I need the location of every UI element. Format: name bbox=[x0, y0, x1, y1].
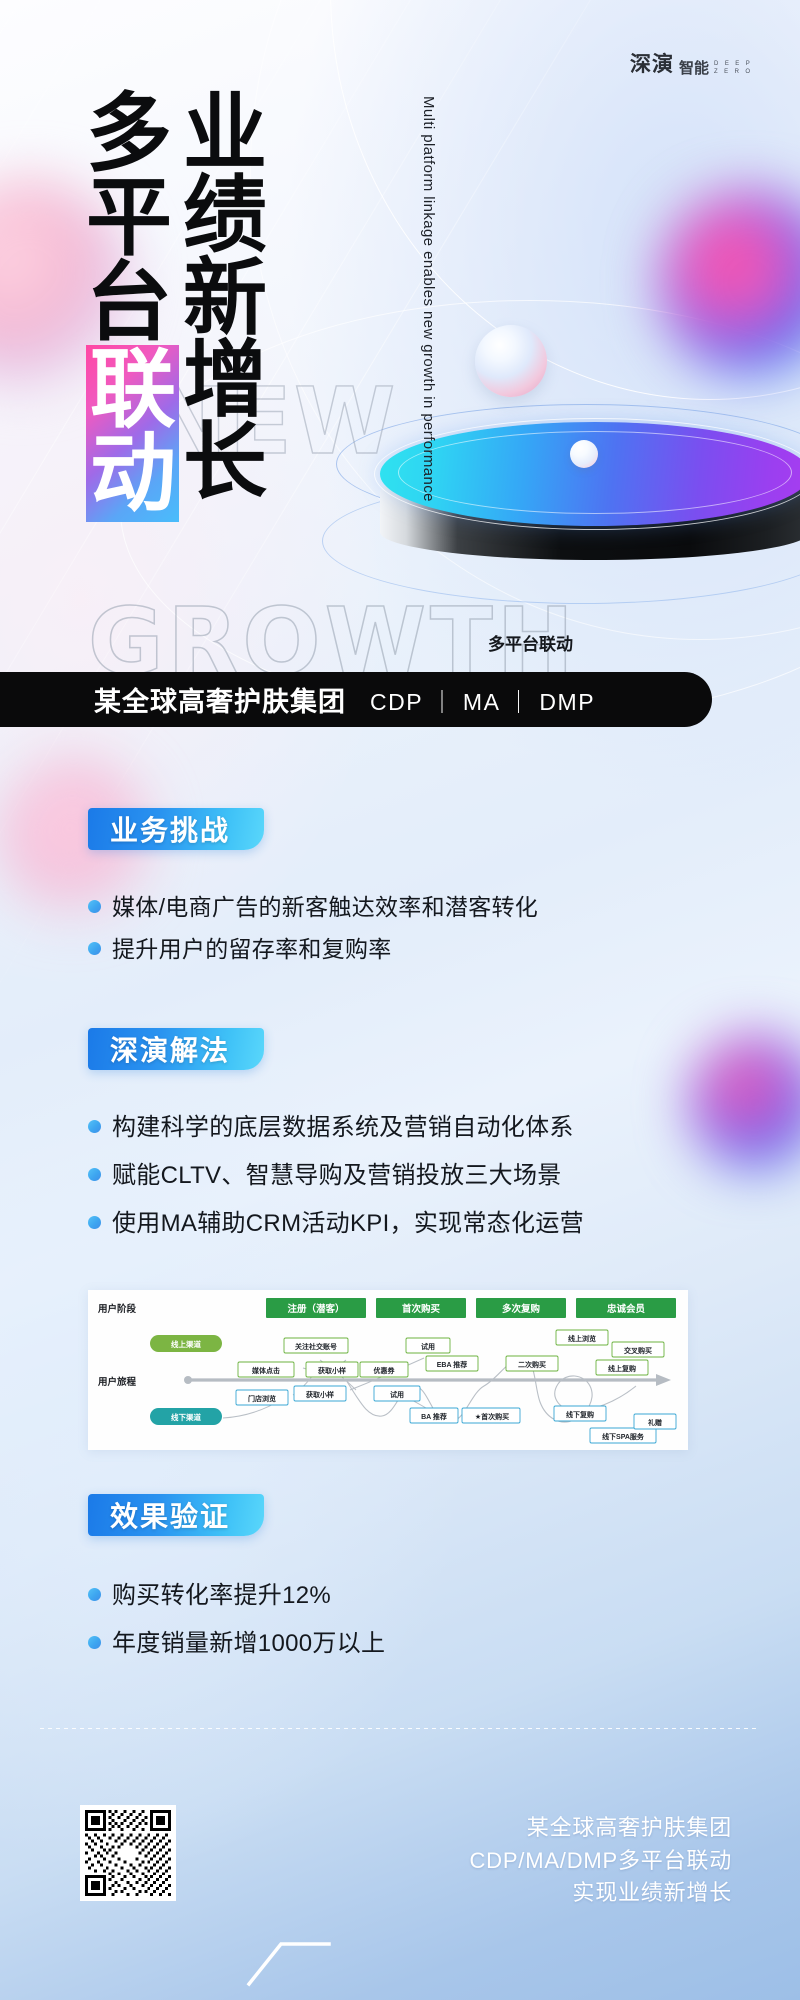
journey-node-label: 线上复购 bbox=[608, 1364, 636, 1373]
client-banner: 某全球高奢护肤集团 CDP ｜ MA ｜ DMP bbox=[0, 672, 712, 727]
journey-node-label: 试用 bbox=[390, 1390, 404, 1399]
journey-node-label: EBA 推荐 bbox=[437, 1360, 467, 1369]
logo-text-en: D E E P Z E R O bbox=[714, 60, 752, 78]
bullet-dot-icon bbox=[88, 900, 101, 913]
list-item: 使用MA辅助CRM活动KPI，实现常态化运营 bbox=[88, 1206, 698, 1242]
journey-node-offline: 门店浏览 bbox=[236, 1390, 288, 1405]
journey-node-label: 礼赠 bbox=[648, 1418, 662, 1427]
logo-en-line1: D E E P bbox=[714, 60, 752, 68]
multi-platform-label: 多平台联动 bbox=[488, 630, 573, 655]
journey-channel-label: 线下渠道 bbox=[171, 1412, 201, 1422]
user-journey-diagram: 用户阶段 用户旅程 注册（潜客） 首次购买 多次复购 忠诚会员 线上渠道 线下渠… bbox=[88, 1290, 688, 1450]
journey-timeline-arrow bbox=[656, 1374, 671, 1386]
bullet-dot-icon bbox=[88, 1216, 101, 1229]
journey-node-label: 线下复购 bbox=[566, 1410, 594, 1419]
journey-node-online: 交叉购买 bbox=[612, 1342, 664, 1357]
journey-node-label: 获取小样 bbox=[317, 1366, 346, 1375]
journey-node-offline-highlight: ★首次购买 bbox=[462, 1408, 520, 1423]
footer-line-3: 实现业绩新增长 bbox=[469, 1877, 732, 1910]
bullet-list-business-challenge: 媒体/电商广告的新客触达效率和潜客转化 提升用户的留存率和复购率 bbox=[88, 890, 688, 973]
journey-node-label: 二次购买 bbox=[518, 1360, 546, 1369]
logo-en-line2: Z E R O bbox=[714, 68, 752, 76]
headline-vertical-english: Multi platform linkage enables new growt… bbox=[250, 96, 440, 502]
footer-arrow-icon bbox=[245, 1940, 331, 1995]
decorative-sphere-small bbox=[570, 440, 598, 468]
section-header-solution: 深演解法 bbox=[88, 1028, 264, 1070]
journey-stage-label: 注册（潜客） bbox=[287, 1303, 344, 1315]
bullet-dot-icon bbox=[88, 1120, 101, 1133]
journey-node-online: EBA 推荐 bbox=[426, 1356, 478, 1371]
decorative-sphere-large bbox=[475, 325, 547, 397]
journey-svg: 用户阶段 用户旅程 注册（潜客） 首次购买 多次复购 忠诚会员 线上渠道 线下渠… bbox=[88, 1290, 688, 1450]
section-title: 业务挑战 bbox=[110, 809, 230, 849]
bullet-text: 提升用户的留存率和复购率 bbox=[112, 932, 392, 967]
bullet-text: 赋能CLTV、智慧导购及营销投放三大场景 bbox=[112, 1158, 562, 1194]
list-item: 构建科学的底层数据系统及营销自动化体系 bbox=[88, 1110, 698, 1146]
journey-node-label: 线下SPA服务 bbox=[602, 1432, 645, 1441]
journey-node-online: 试用 bbox=[406, 1338, 450, 1353]
journey-node-online: 关注社交账号 bbox=[284, 1338, 348, 1353]
journey-node-online: 线上复购 bbox=[596, 1360, 648, 1375]
section-title: 效果验证 bbox=[110, 1495, 230, 1535]
headline-highlight-box: 联 动 bbox=[86, 345, 179, 523]
bullet-text: 构建科学的底层数据系统及营销自动化体系 bbox=[112, 1110, 574, 1146]
logo-text-cn: 深演 bbox=[630, 48, 674, 78]
journey-node-label: 关注社交账号 bbox=[295, 1342, 337, 1351]
journey-node-online: 二次购买 bbox=[506, 1356, 558, 1371]
headline-column-left: 多 平 台 联 动 bbox=[86, 92, 179, 522]
journey-node-online: 线上浏览 bbox=[556, 1330, 608, 1345]
bullet-text: 媒体/电商广告的新客触达效率和潜客转化 bbox=[112, 890, 538, 925]
section-title: 深演解法 bbox=[110, 1029, 230, 1069]
list-item: 媒体/电商广告的新客触达效率和潜客转化 bbox=[88, 890, 688, 925]
journey-node-offline: 试用 bbox=[374, 1386, 420, 1401]
banner-client-name: 某全球高奢护肤集团 bbox=[94, 680, 346, 719]
logo-text-cn-secondary: 智能 bbox=[679, 57, 709, 78]
list-item: 提升用户的留存率和复购率 bbox=[88, 932, 688, 967]
journey-row-label: 用户旅程 bbox=[97, 1376, 137, 1388]
journey-node-online: 优惠券 bbox=[360, 1362, 408, 1377]
headline-char: 台 bbox=[86, 261, 179, 345]
journey-node-label: 门店浏览 bbox=[248, 1394, 276, 1403]
bullet-dot-icon bbox=[88, 942, 101, 955]
journey-stage-label: 首次购买 bbox=[402, 1303, 441, 1315]
bullet-list-results: 购买转化率提升12% 年度销量新增1000万以上 bbox=[88, 1578, 688, 1674]
bullet-text: 购买转化率提升12% bbox=[112, 1578, 331, 1614]
journey-node-label: 交叉购买 bbox=[624, 1346, 652, 1355]
list-item: 赋能CLTV、智慧导购及营销投放三大场景 bbox=[88, 1158, 698, 1194]
banner-product-list: CDP ｜ MA ｜ DMP bbox=[370, 683, 595, 717]
journey-node-label: 优惠券 bbox=[374, 1366, 396, 1375]
bullet-text: 使用MA辅助CRM活动KPI，实现常态化运营 bbox=[112, 1206, 584, 1242]
headline-highlight-char: 联 bbox=[90, 348, 175, 432]
bullet-list-solution: 构建科学的底层数据系统及营销自动化体系 赋能CLTV、智慧导购及营销投放三大场景… bbox=[88, 1110, 698, 1254]
headline-char: 多 bbox=[86, 92, 179, 176]
journey-stage-label: 多次复购 bbox=[502, 1303, 541, 1315]
journey-node-label: 线上浏览 bbox=[568, 1334, 596, 1343]
footer-line-2: CDP/MA/DMP多平台联动 bbox=[469, 1845, 732, 1878]
journey-node-offline: 线下复购 bbox=[554, 1406, 606, 1421]
journey-node-offline: 礼赠 bbox=[634, 1414, 676, 1429]
headline-block: 多 平 台 联 动 业 绩 新 增 长 bbox=[86, 92, 266, 522]
journey-channel-label: 线上渠道 bbox=[171, 1339, 201, 1349]
journey-node-online: 获取小样 bbox=[306, 1362, 358, 1377]
footer-divider bbox=[40, 1728, 760, 1729]
bullet-dot-icon bbox=[88, 1168, 101, 1181]
journey-stage-label: 忠诚会员 bbox=[607, 1303, 646, 1315]
section-header-business-challenge: 业务挑战 bbox=[88, 808, 264, 850]
list-item: 购买转化率提升12% bbox=[88, 1578, 688, 1614]
brand-logo: 深演 智能 D E E P Z E R O bbox=[630, 48, 752, 78]
headline-highlight-char: 动 bbox=[90, 432, 175, 516]
journey-node-offline: 线下SPA服务 bbox=[590, 1428, 656, 1443]
bullet-dot-icon bbox=[88, 1588, 101, 1601]
journey-node-label: 试用 bbox=[421, 1342, 435, 1351]
headline-char: 平 bbox=[86, 176, 179, 260]
section-header-results: 效果验证 bbox=[88, 1494, 264, 1536]
journey-node-label: ★首次购买 bbox=[475, 1412, 509, 1421]
journey-node-label: 获取小样 bbox=[305, 1390, 334, 1399]
journey-node-online: 媒体点击 bbox=[238, 1362, 294, 1377]
bullet-text: 年度销量新增1000万以上 bbox=[112, 1626, 385, 1662]
footer-text-block: 某全球高奢护肤集团 CDP/MA/DMP多平台联动 实现业绩新增长 bbox=[469, 1812, 732, 1910]
journey-node-label: BA 推荐 bbox=[421, 1412, 447, 1421]
journey-node-offline: 获取小样 bbox=[294, 1386, 346, 1401]
list-item: 年度销量新增1000万以上 bbox=[88, 1626, 688, 1662]
footer-line-1: 某全球高奢护肤集团 bbox=[469, 1812, 732, 1845]
bullet-dot-icon bbox=[88, 1636, 101, 1649]
qr-code[interactable] bbox=[80, 1805, 176, 1901]
qr-code-image bbox=[85, 1810, 171, 1896]
journey-node-label: 媒体点击 bbox=[251, 1366, 280, 1375]
journey-row-label: 用户阶段 bbox=[97, 1303, 137, 1315]
journey-node-offline: BA 推荐 bbox=[410, 1408, 458, 1423]
